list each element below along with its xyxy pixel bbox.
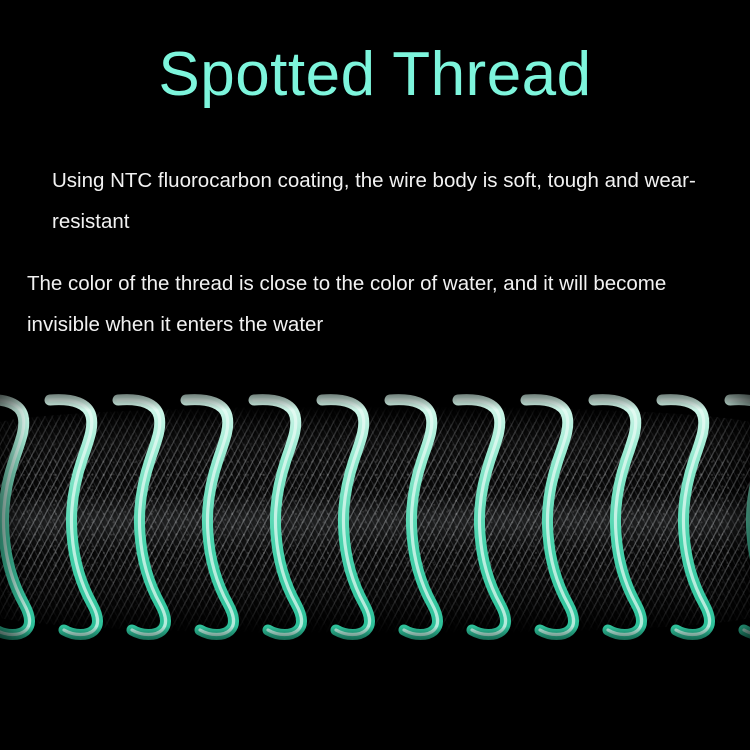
product-detail-page: Spotted Thread Using NTC fluorocarbon co… — [0, 0, 750, 750]
carbon-weave-speckles — [0, 406, 750, 634]
description-paragraph-2: The color of the thread is close to the … — [0, 263, 750, 345]
description-block: Using NTC fluorocarbon coating, the wire… — [0, 160, 750, 345]
page-title: Spotted Thread — [0, 38, 750, 112]
product-photo — [0, 392, 750, 644]
description-paragraph-1: Using NTC fluorocarbon coating, the wire… — [0, 160, 750, 242]
spool-body — [0, 406, 750, 634]
